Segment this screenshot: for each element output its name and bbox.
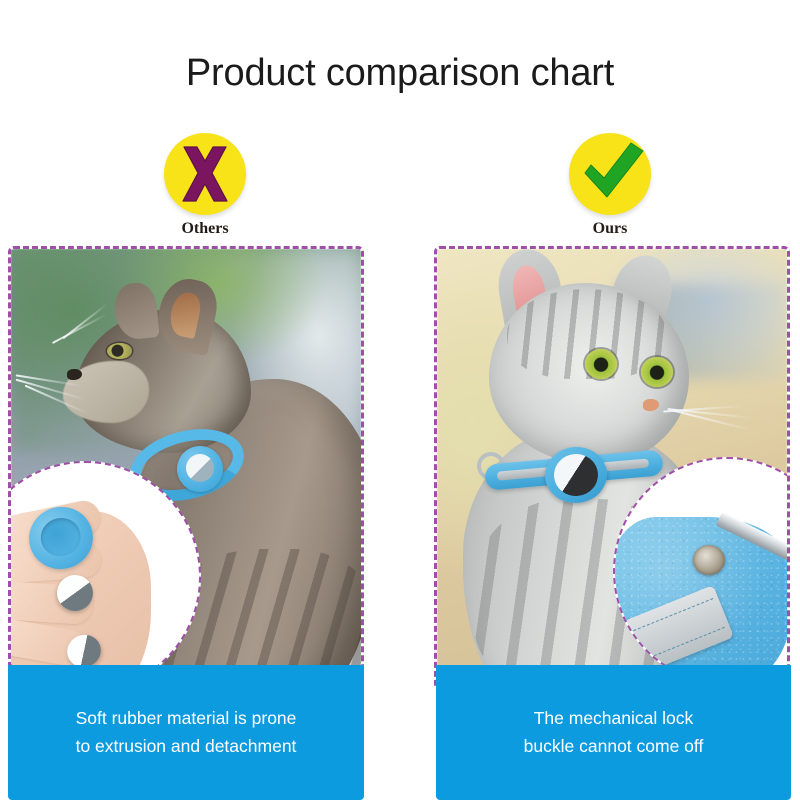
check-mark-icon xyxy=(569,133,651,215)
cat-eye xyxy=(585,349,617,379)
photo-others-cat-collar xyxy=(11,249,361,687)
caption-line: to extrusion and detachment xyxy=(76,733,297,760)
caption-others: Soft rubber material is prone to extrusi… xyxy=(8,665,364,800)
caption-line: The mechanical lock xyxy=(524,705,704,732)
cat-eye xyxy=(641,357,673,387)
product-comparison-page: Product comparison chart Others Ours xyxy=(0,0,800,800)
page-title: Product comparison chart xyxy=(0,52,800,95)
caption-ours: The mechanical lock buckle cannot come o… xyxy=(436,665,791,800)
cat-eye xyxy=(107,343,132,359)
cross-mark-icon xyxy=(164,133,246,215)
badge-others: Others xyxy=(125,133,285,238)
caption-line: Soft rubber material is prone xyxy=(76,705,297,732)
badge-circle-ours xyxy=(569,133,651,215)
badge-label-ours: Ours xyxy=(530,220,690,238)
silicone-airtag-holder xyxy=(177,446,223,492)
badge-ours: Ours xyxy=(530,133,690,238)
badge-circle-others xyxy=(164,133,246,215)
comparison-panel-others xyxy=(8,246,364,690)
photo-ours-cat-collar xyxy=(437,249,787,687)
comparison-panel-ours xyxy=(434,246,790,690)
badge-label-others: Others xyxy=(125,220,285,238)
screw-rivet xyxy=(693,545,725,575)
caption-line: buckle cannot come off xyxy=(524,733,704,760)
